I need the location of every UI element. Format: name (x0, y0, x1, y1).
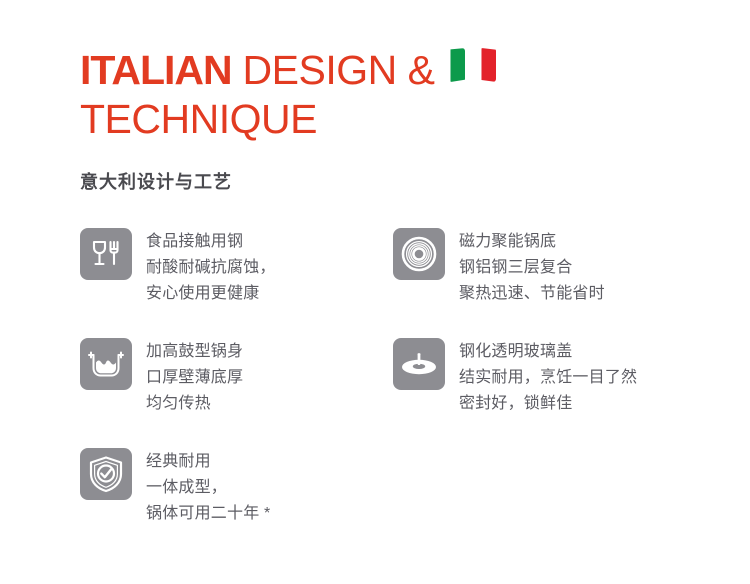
feature-text: 钢化透明玻璃盖 结实耐用，烹饪一目了然 密封好，锁鲜佳 (459, 338, 637, 417)
pot-body-water-icon (80, 338, 132, 390)
feature-line: 聚热迅速、节能省时 (459, 281, 605, 307)
feature-item: 钢化透明玻璃盖 结实耐用，烹饪一目了然 密封好，锁鲜佳 (393, 338, 723, 417)
feature-line: 结实耐用，烹饪一目了然 (459, 365, 637, 391)
feature-text: 经典耐用 一体成型， 锅体可用二十年 * (146, 448, 270, 527)
feature-line: 经典耐用 (146, 449, 270, 475)
feature-line: 磁力聚能锅底 (459, 229, 605, 255)
feature-line: 均匀传热 (146, 391, 243, 417)
headline-light: DESIGN & (232, 47, 435, 93)
shield-check-icon (80, 448, 132, 500)
promo-banner: ITALIAN DESIGN & TECHNIQUE 意大利设计与工艺 (0, 0, 750, 584)
feature-line: 口厚壁薄底厚 (146, 365, 243, 391)
feature-item: 食品接触用钢 耐酸耐碱抗腐蚀， 安心使用更健康 (80, 228, 380, 307)
feature-line: 食品接触用钢 (146, 229, 276, 255)
feature-line: 密封好，锁鲜佳 (459, 391, 637, 417)
flag-stripe-red (481, 48, 496, 82)
headline-strong: ITALIAN (80, 47, 232, 93)
feature-line: 钢化透明玻璃盖 (459, 339, 637, 365)
page-title: ITALIAN DESIGN & (80, 44, 720, 96)
induction-base-rings-icon (393, 228, 445, 280)
feature-text: 加高鼓型锅身 口厚壁薄底厚 均匀传热 (146, 338, 243, 417)
page-title-line2: TECHNIQUE (80, 96, 720, 142)
feature-line: 锅体可用二十年 * (146, 501, 270, 527)
header-block: ITALIAN DESIGN & TECHNIQUE (80, 44, 720, 142)
flag-stripe-white (465, 48, 480, 82)
feature-item: 加高鼓型锅身 口厚壁薄底厚 均匀传热 (80, 338, 380, 417)
feature-line: 加高鼓型锅身 (146, 339, 243, 365)
feature-text: 磁力聚能锅底 钢铝钢三层复合 聚热迅速、节能省时 (459, 228, 605, 307)
feature-item: 磁力聚能锅底 钢铝钢三层复合 聚热迅速、节能省时 (393, 228, 723, 307)
italy-flag-icon (450, 48, 496, 82)
feature-line: 一体成型， (146, 475, 270, 501)
glass-lid-icon (393, 338, 445, 390)
flag-stripe-green (450, 48, 465, 82)
feature-line: 钢铝钢三层复合 (459, 255, 605, 281)
feature-text: 食品接触用钢 耐酸耐碱抗腐蚀， 安心使用更健康 (146, 228, 276, 307)
feature-line: 安心使用更健康 (146, 281, 276, 307)
page-subtitle: 意大利设计与工艺 (80, 168, 232, 194)
food-safe-glass-fork-icon (80, 228, 132, 280)
feature-item: 经典耐用 一体成型， 锅体可用二十年 * (80, 448, 380, 527)
feature-line: 耐酸耐碱抗腐蚀， (146, 255, 276, 281)
